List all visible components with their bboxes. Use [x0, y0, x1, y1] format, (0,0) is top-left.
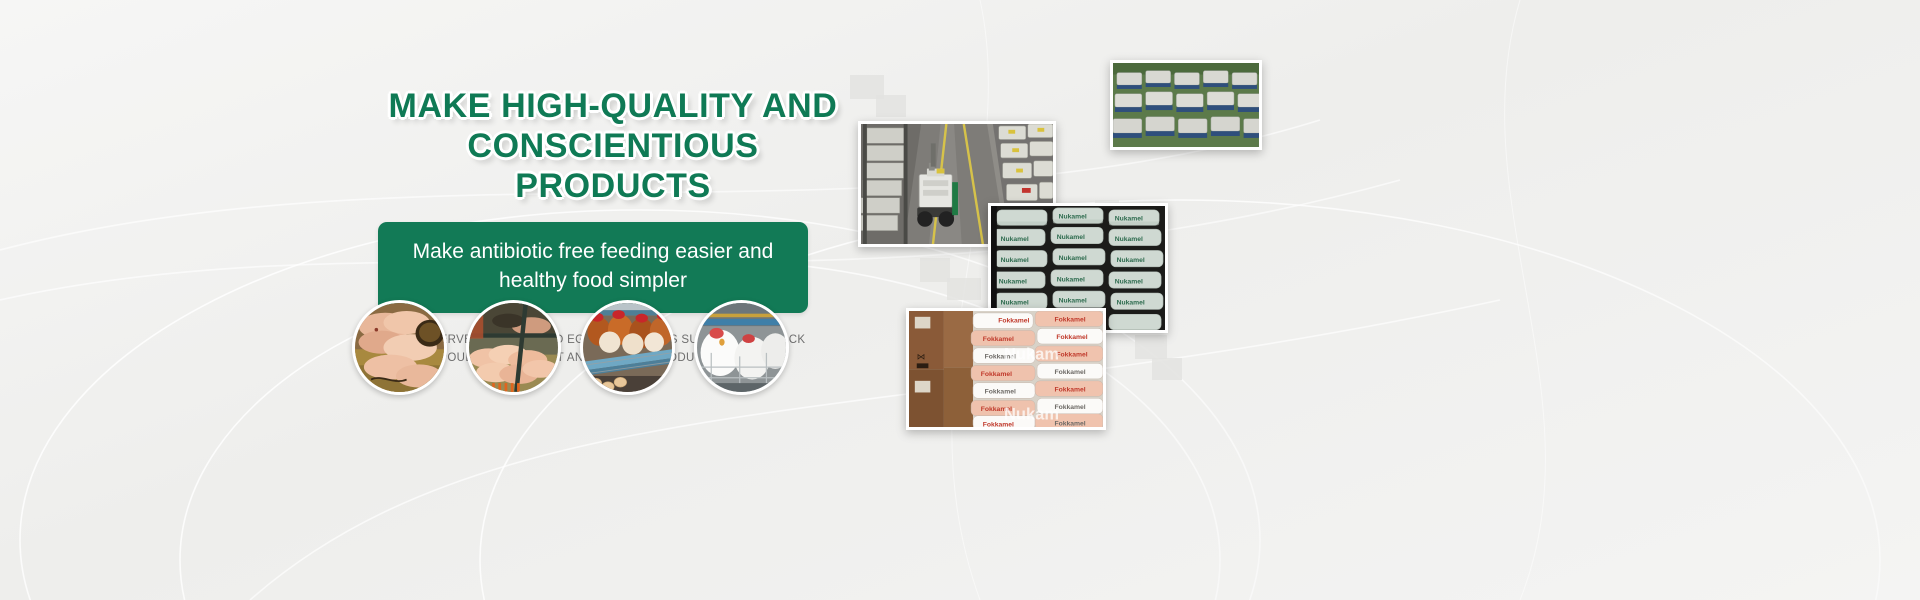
svg-text:Nukamel: Nukamel [1001, 300, 1029, 307]
laying-hens-image [583, 303, 672, 392]
thumbnail-row [352, 300, 789, 395]
background-arcs [0, 0, 1920, 600]
white-hens-image [697, 303, 786, 392]
svg-text:Fokkamel: Fokkamel [1054, 387, 1085, 394]
svg-text:Fokkamel: Fokkamel [1056, 352, 1087, 359]
piglets-nursing-image [355, 303, 444, 392]
white-hens-thumb[interactable] [694, 300, 789, 395]
svg-text:⋈: ⋈ [917, 351, 926, 361]
svg-text:Fokkamel: Fokkamel [981, 371, 1012, 378]
svg-text:Nukamel: Nukamel [1059, 214, 1087, 221]
fokkamel-bags-photo[interactable]: ⋈ Fokkamel Fokkamel [906, 308, 1106, 430]
svg-text:Fokkamel: Fokkamel [1054, 404, 1085, 411]
page-title: MAKE HIGH-QUALITY AND CONSCIENTIOUS PROD… [378, 86, 848, 206]
svg-text:Nukam: Nukam [1004, 406, 1059, 424]
svg-text:Nukamel: Nukamel [1059, 255, 1087, 262]
svg-text:Fokkamel: Fokkamel [1056, 334, 1087, 341]
svg-text:Nukamel: Nukamel [1001, 257, 1029, 264]
svg-text:Nukamel: Nukamel [1117, 300, 1145, 307]
svg-text:Nukamel: Nukamel [1059, 298, 1087, 305]
svg-text:Nukamel: Nukamel [1115, 278, 1143, 285]
svg-text:Nukamel: Nukamel [999, 278, 1027, 285]
svg-text:Fokkamel: Fokkamel [985, 388, 1016, 395]
svg-text:Nukamel: Nukamel [1057, 234, 1085, 241]
fokkamel-bags-image: ⋈ Fokkamel Fokkamel [909, 311, 1103, 429]
decor-block-2 [876, 95, 906, 117]
pallets-outdoor-photo[interactable] [1110, 60, 1262, 150]
piglets-feeding-image [469, 303, 558, 392]
svg-text:Nukamel: Nukamel [1057, 276, 1085, 283]
decor-block-5 [1135, 335, 1167, 359]
svg-text:Nukamel: Nukamel [1117, 257, 1145, 264]
piglets-feeding-thumb[interactable] [466, 300, 561, 395]
svg-text:Fokkamel: Fokkamel [1054, 369, 1085, 376]
svg-text:Fokkamel: Fokkamel [1054, 420, 1085, 427]
decor-block-4 [947, 278, 981, 300]
hero-banner: MAKE HIGH-QUALITY AND CONSCIENTIOUS PROD… [0, 0, 1920, 600]
svg-text:Nukamel: Nukamel [1001, 236, 1029, 243]
svg-text:Nukam: Nukam [1004, 345, 1059, 363]
piglets-nursing-thumb[interactable] [352, 300, 447, 395]
pallets-outdoor-image [1113, 63, 1259, 149]
decor-block-3 [920, 258, 950, 282]
subtitle-text: Make antibiotic free feeding easier and … [396, 238, 790, 295]
svg-text:Nukamel: Nukamel [1115, 236, 1143, 243]
svg-text:Fokkamel: Fokkamel [998, 318, 1029, 325]
laying-hens-thumb[interactable] [580, 300, 675, 395]
svg-text:Nukamel: Nukamel [1115, 215, 1143, 222]
decor-block-6 [1152, 358, 1182, 380]
svg-text:Fokkamel: Fokkamel [1054, 317, 1085, 324]
svg-text:Fokkamel: Fokkamel [983, 336, 1014, 343]
